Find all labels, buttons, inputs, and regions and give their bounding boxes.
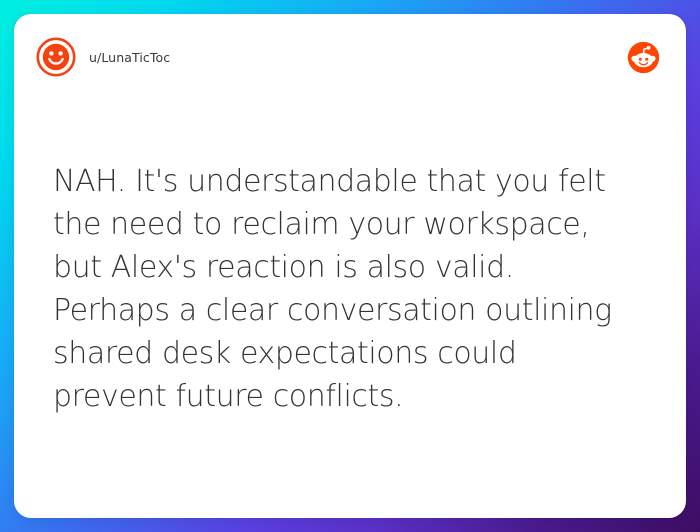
reddit-snoo-icon [627, 41, 660, 74]
post-text-line: but Alex's reaction is also valid. [53, 246, 660, 289]
username-label: u/LunaTicToc [89, 50, 170, 65]
reddit-post-card-screenshot: u/LunaTicToc [0, 0, 700, 532]
post-text-line: NAH. It's understandable that you felt [53, 160, 660, 203]
post-text-line: shared desk expectations could [53, 332, 660, 375]
post-text-line: Perhaps a clear conversation outlining [53, 289, 660, 332]
post-body: NAH. It's understandable that you felt t… [53, 160, 660, 418]
smiley-face-avatar-icon [36, 37, 76, 77]
avatar[interactable] [36, 37, 76, 77]
brand-logo[interactable] [627, 41, 660, 74]
post-header: u/LunaTicToc [14, 14, 686, 100]
post-card: u/LunaTicToc [14, 14, 686, 518]
post-text-line: prevent future conflicts. [53, 375, 660, 418]
post-text-line: the need to reclaim your workspace, [53, 203, 660, 246]
